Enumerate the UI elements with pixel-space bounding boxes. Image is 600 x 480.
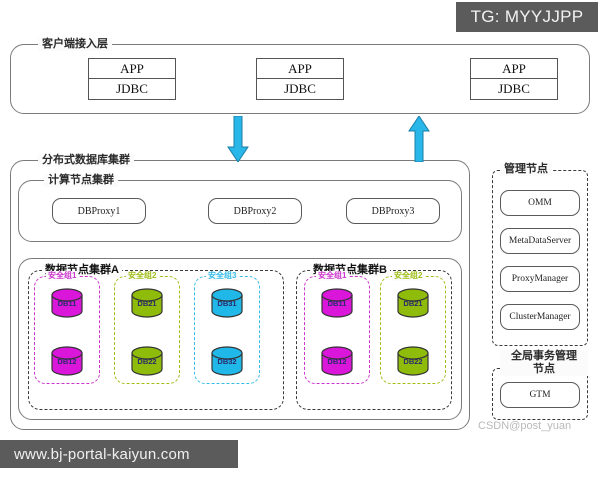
csdn-watermark: CSDN@post_yuan	[478, 420, 571, 432]
database-cylinder[interactable]: DB11	[320, 288, 354, 318]
jdbc-box[interactable]: JDBC	[88, 79, 176, 100]
database-cylinder[interactable]: DB12	[320, 346, 354, 376]
url-banner: www.bj-portal-kaiyun.com	[0, 440, 238, 468]
security-group-label: 安全组2	[392, 271, 424, 281]
management-node-box[interactable]: MetaDataServer	[500, 228, 580, 254]
distributed-db-cluster-label: 分布式数据库集群	[38, 154, 134, 167]
client-access-layer-label: 客户端接入层	[38, 38, 112, 51]
arrow-down-to-cluster	[227, 116, 249, 162]
database-cylinder[interactable]: DB11	[50, 288, 84, 318]
app-box[interactable]: APP	[256, 58, 344, 79]
dbproxy-box[interactable]: DBProxy3	[346, 198, 440, 224]
app-box[interactable]: APP	[470, 58, 558, 79]
security-group-label: 安全组1	[316, 271, 348, 281]
jdbc-box[interactable]: JDBC	[256, 79, 344, 100]
management-node-box[interactable]: OMM	[500, 190, 580, 216]
database-cylinder[interactable]: DB22	[396, 346, 430, 376]
database-cylinder[interactable]: DB32	[210, 346, 244, 376]
app-jdbc-stack: APPJDBC	[470, 58, 558, 100]
gtm-node-box[interactable]: GTM	[500, 382, 580, 408]
arrow-up-to-client	[408, 116, 430, 162]
compute-node-cluster-label: 计算节点集群	[44, 174, 118, 187]
security-group-label: 安全组2	[126, 271, 158, 281]
database-cylinder[interactable]: DB22	[130, 346, 164, 376]
security-group-label: 安全组3	[206, 271, 238, 281]
app-jdbc-stack: APPJDBC	[88, 58, 176, 100]
management-node-box[interactable]: ClusterManager	[500, 304, 580, 330]
jdbc-box[interactable]: JDBC	[470, 79, 558, 100]
database-cylinder[interactable]: DB21	[130, 288, 164, 318]
security-group-label: 安全组1	[46, 271, 78, 281]
database-cylinder[interactable]: DB31	[210, 288, 244, 318]
database-cylinder[interactable]: DB12	[50, 346, 84, 376]
app-box[interactable]: APP	[88, 58, 176, 79]
management-node-box[interactable]: ProxyManager	[500, 266, 580, 292]
management-node-label: 管理节点	[500, 163, 552, 176]
database-cylinder[interactable]: DB21	[396, 288, 430, 318]
dbproxy-box[interactable]: DBProxy2	[208, 198, 302, 224]
tg-badge: TG: MYYJJPP	[456, 2, 598, 32]
gtm-node-label: 全局事务管理节点	[500, 350, 588, 376]
app-jdbc-stack: APPJDBC	[256, 58, 344, 100]
dbproxy-box[interactable]: DBProxy1	[52, 198, 146, 224]
